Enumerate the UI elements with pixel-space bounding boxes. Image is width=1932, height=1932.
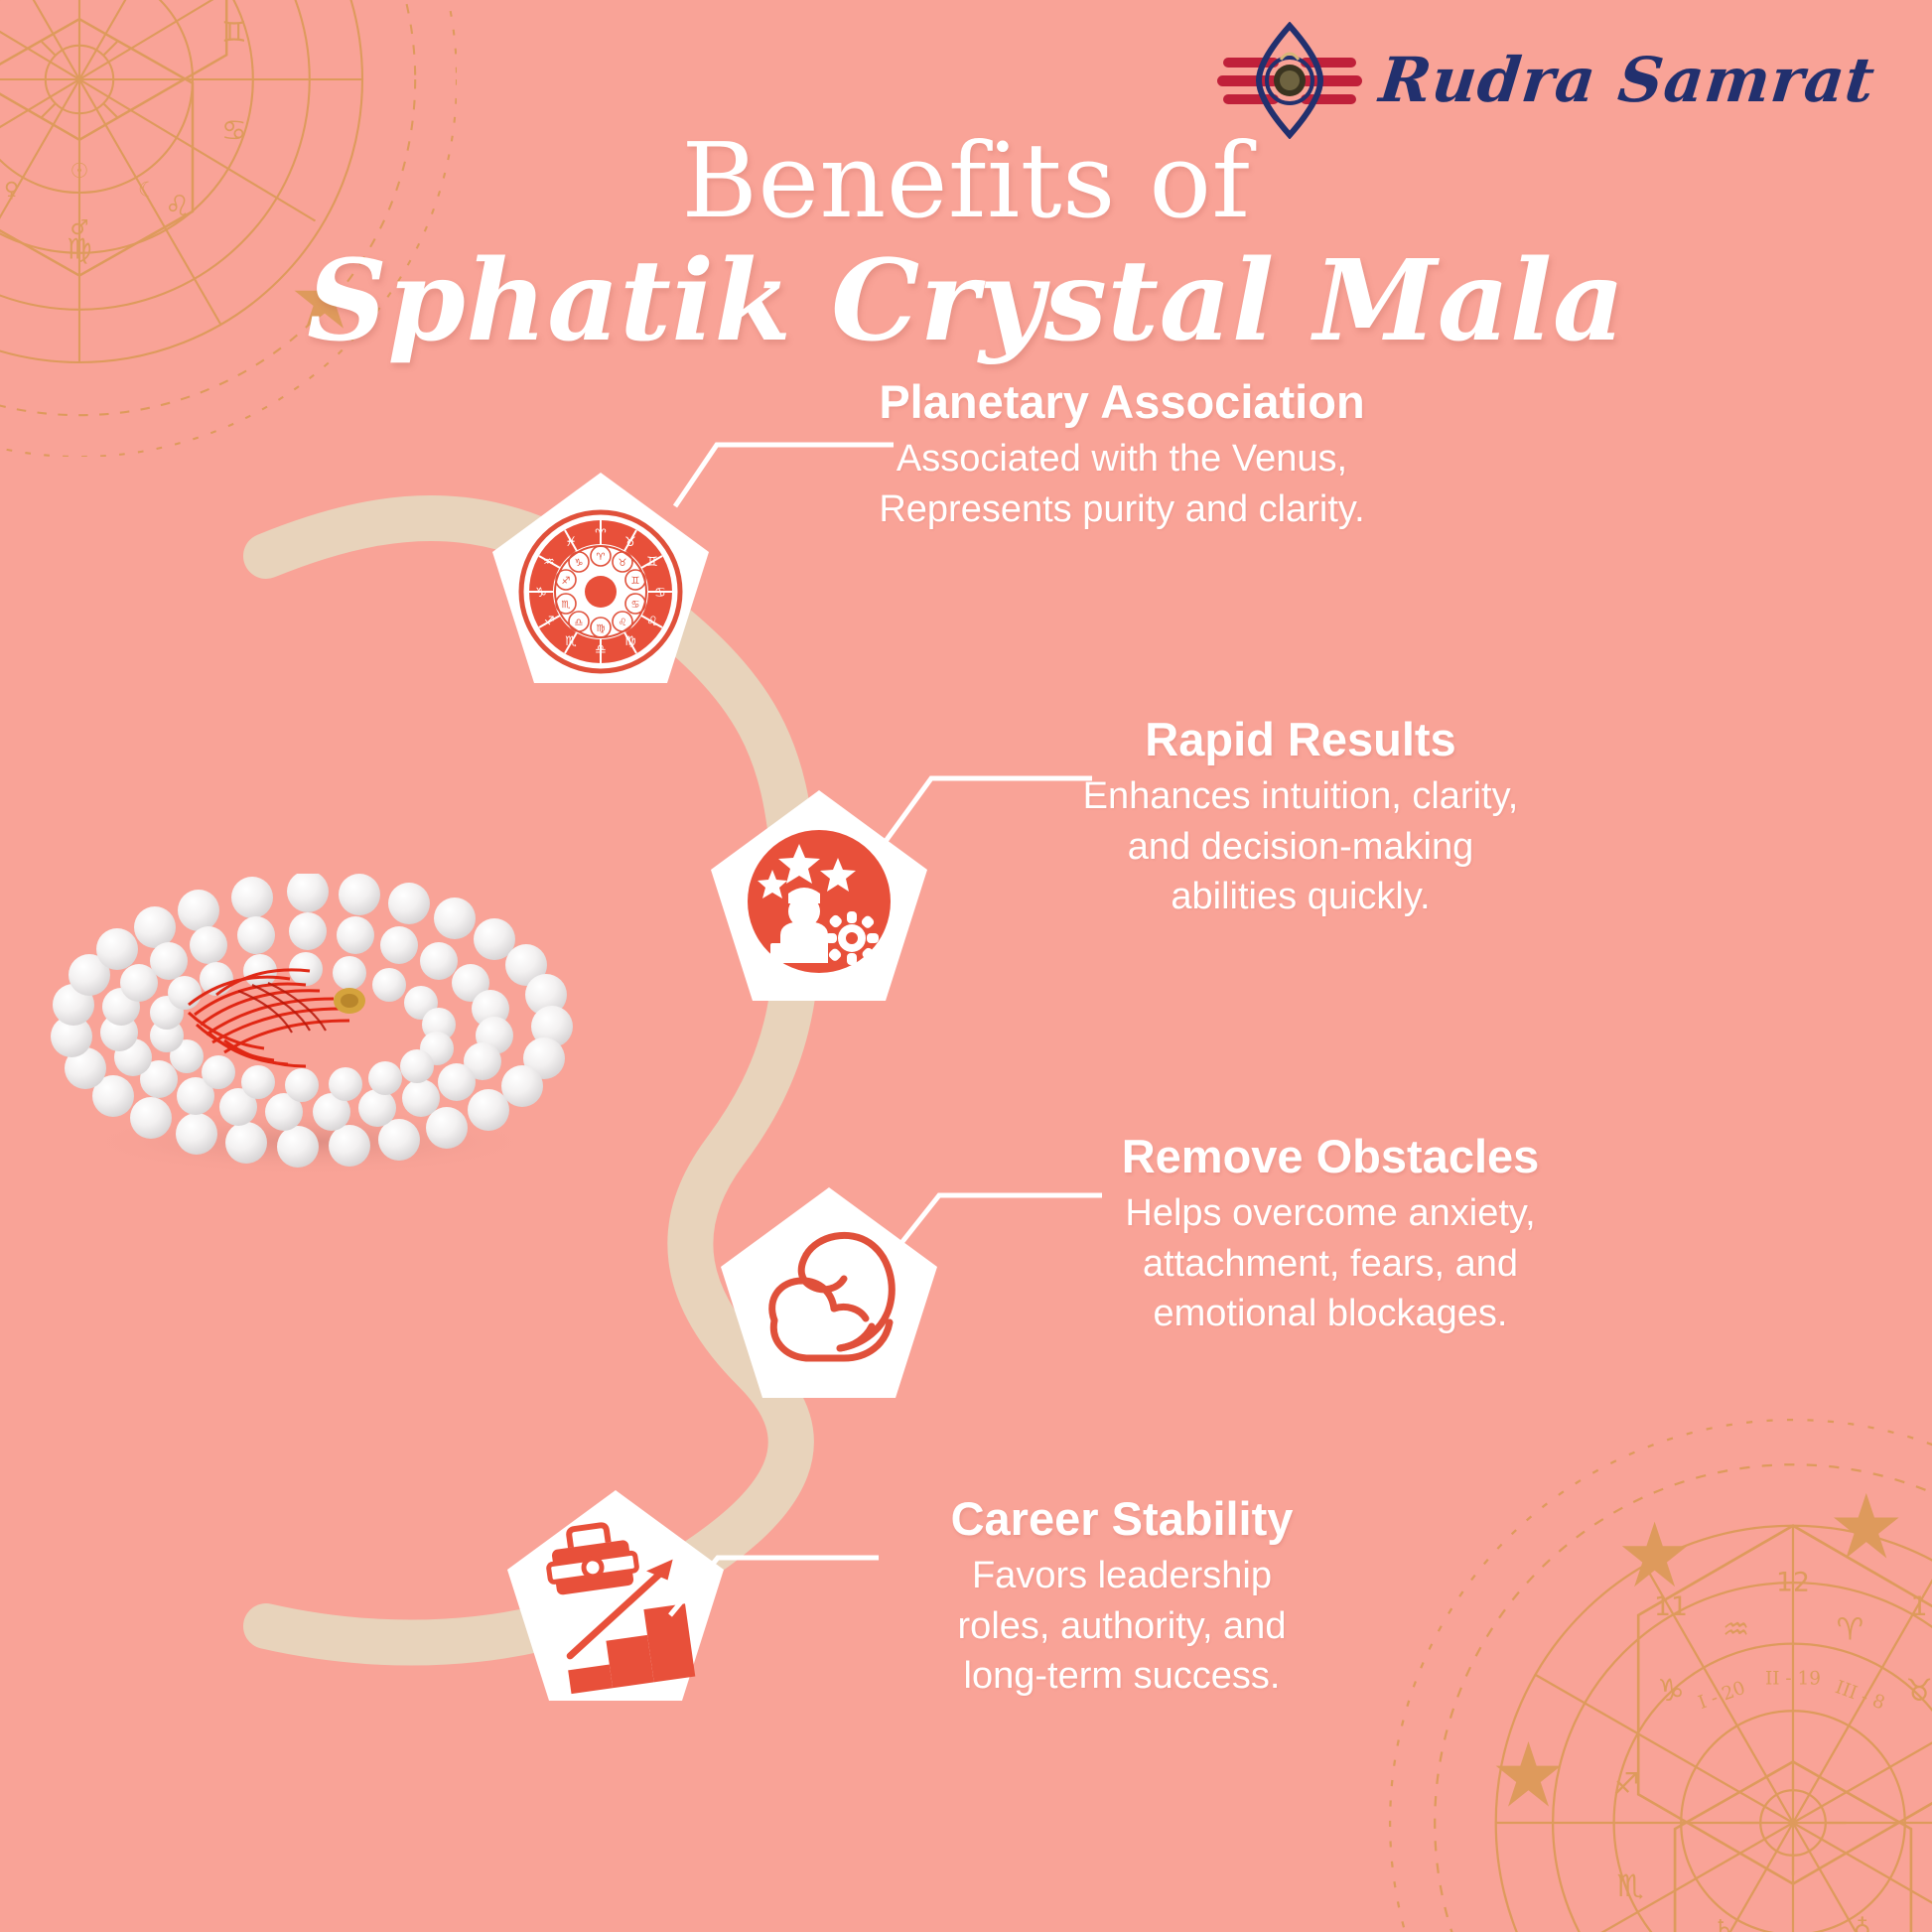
svg-text:♋: ♋ bbox=[631, 600, 640, 611]
svg-text:♈: ♈ bbox=[595, 527, 607, 542]
svg-text:♎: ♎ bbox=[595, 642, 607, 657]
svg-text:♐: ♐ bbox=[562, 576, 571, 587]
benefit-title-4: Career Stability bbox=[839, 1494, 1405, 1543]
svg-text:♎: ♎ bbox=[575, 618, 584, 628]
svg-text:♑: ♑ bbox=[575, 558, 584, 569]
benefit-text-3: Remove Obstacles Helps overcome anxiety,… bbox=[1042, 1132, 1618, 1339]
svg-text:♍: ♍ bbox=[597, 623, 606, 634]
svg-text:♉: ♉ bbox=[624, 535, 636, 550]
brand-logo[interactable]: Rudra Samrat bbox=[1215, 22, 1874, 139]
svg-text:♏: ♏ bbox=[1616, 1868, 1644, 1904]
svg-text:♊: ♊ bbox=[631, 576, 640, 587]
svg-text:II - 19: II - 19 bbox=[1765, 1669, 1821, 1690]
brand-name: Rudra Samrat bbox=[1376, 50, 1877, 111]
svg-text:♒: ♒ bbox=[543, 555, 555, 570]
title-line-2: Sphatik Crystal Mala bbox=[0, 239, 1932, 363]
sphatik-crystal-mala-photo bbox=[40, 874, 596, 1181]
benefit-desc-4: Favors leadership roles, authority, and … bbox=[839, 1551, 1405, 1702]
svg-text:♏: ♏ bbox=[565, 634, 577, 649]
benefit-title-2: Rapid Results bbox=[1042, 715, 1559, 763]
svg-text:♒: ♒ bbox=[1723, 1612, 1750, 1648]
svg-text:♍: ♍ bbox=[624, 634, 636, 649]
svg-text:12: 12 bbox=[1776, 1567, 1810, 1597]
svg-text:♄: ♄ bbox=[1713, 1914, 1734, 1932]
svg-text:♋: ♋ bbox=[654, 586, 666, 601]
svg-text:♊: ♊ bbox=[646, 555, 658, 570]
svg-text:III - 8: III - 8 bbox=[1833, 1677, 1888, 1714]
briefcase-stairs-arrow-icon bbox=[501, 1484, 730, 1713]
title-line-1: Benefits of bbox=[0, 127, 1932, 235]
svg-text:11: 11 bbox=[1654, 1591, 1688, 1622]
svg-text:♁: ♁ bbox=[1854, 1914, 1871, 1932]
svg-text:♐: ♐ bbox=[1612, 1766, 1640, 1802]
svg-text:♐: ♐ bbox=[543, 615, 555, 629]
svg-text:♏: ♏ bbox=[562, 600, 571, 611]
svg-text:♌: ♌ bbox=[646, 615, 658, 629]
svg-text:♉: ♉ bbox=[619, 558, 627, 569]
svg-text:♌: ♌ bbox=[619, 618, 627, 628]
svg-text:♊: ♊ bbox=[221, 16, 247, 49]
svg-text:♉: ♉ bbox=[1905, 1673, 1932, 1709]
page-title: Benefits of Sphatik Crystal Mala bbox=[0, 127, 1932, 364]
flexed-bicep-icon bbox=[715, 1181, 943, 1410]
zodiac-wheel-icon: ♈ ♉ ♊ ♋ ♌ ♍ ♎ ♏ ♐ ♑ ♒ ♓ bbox=[486, 467, 715, 695]
svg-text:I - 20: I - 20 bbox=[1696, 1678, 1748, 1714]
astrology-chart-watermark-bottom-right: ♈ ♉ ♊ ♋ ♌ ♍ ♎ ♏ ♐ ♑ ♒ ♄ ♃ ♁ III - 8 II -… bbox=[1386, 1416, 1932, 1932]
benefit-title-3: Remove Obstacles bbox=[1042, 1132, 1618, 1180]
benefit-text-4: Career Stability Favors leadership roles… bbox=[839, 1494, 1405, 1702]
svg-text:♑: ♑ bbox=[1657, 1673, 1685, 1709]
svg-text:♈: ♈ bbox=[597, 552, 606, 563]
svg-text:♑: ♑ bbox=[535, 586, 547, 601]
benefit-text-2: Rapid Results Enhances intuition, clarit… bbox=[1042, 715, 1559, 922]
rated-person-gear-icon bbox=[705, 784, 933, 1013]
svg-text:♓: ♓ bbox=[565, 535, 577, 550]
benefit-desc-1: Associated with the Venus, Represents pu… bbox=[814, 434, 1430, 534]
benefit-text-1: Planetary Association Associated with th… bbox=[814, 377, 1430, 534]
svg-text:♈: ♈ bbox=[1837, 1612, 1864, 1648]
benefit-desc-2: Enhances intuition, clarity, and decisio… bbox=[1042, 771, 1559, 922]
svg-text:1: 1 bbox=[1911, 1591, 1928, 1622]
infographic-canvas: ♈ ♉ ♊ ♋ ♌ ♍ ♎ ♏ ♐ ♑ ♒ ♓ ☉ ☾ ♀ ♂ bbox=[0, 0, 1932, 1932]
benefit-title-1: Planetary Association bbox=[814, 377, 1430, 426]
benefit-desc-3: Helps overcome anxiety, attachment, fear… bbox=[1042, 1188, 1618, 1339]
